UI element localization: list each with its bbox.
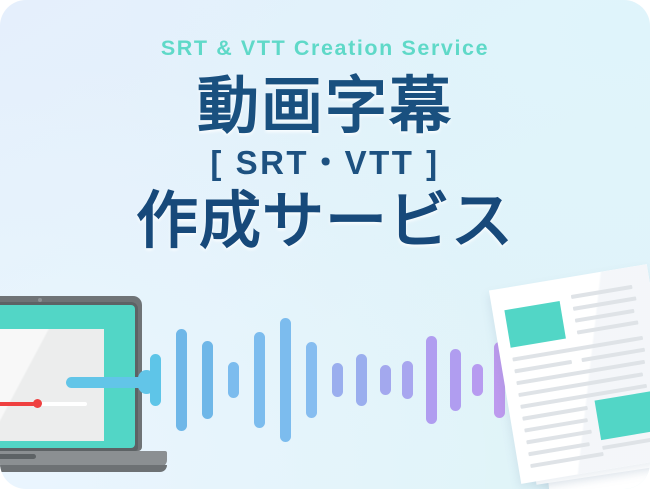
waveform-bar bbox=[402, 361, 413, 399]
progress-handle[interactable] bbox=[33, 399, 42, 408]
laptop-base-notch bbox=[0, 454, 36, 459]
page-title: 動画字幕 bbox=[0, 74, 650, 141]
laptop-base-edge bbox=[0, 465, 167, 472]
waveform-bar bbox=[280, 318, 291, 442]
banner-card: SRT & VTT Creation Service 動画字幕 [ SRT・VT… bbox=[0, 0, 650, 489]
waveform-bar bbox=[472, 364, 483, 396]
document-image-block bbox=[595, 391, 650, 440]
audio-waveform bbox=[150, 310, 510, 450]
waveform-bar bbox=[426, 336, 437, 424]
waveform-bar bbox=[380, 365, 391, 395]
document-sheet-front bbox=[489, 264, 650, 484]
waveform-bar bbox=[306, 342, 317, 418]
laptop-camera-icon bbox=[38, 298, 42, 302]
page-title-line2: 作成サービス bbox=[0, 189, 650, 256]
headline-block: SRT & VTT Creation Service 動画字幕 [ SRT・VT… bbox=[0, 0, 650, 256]
waveform-bar bbox=[450, 349, 461, 411]
progress-fill bbox=[0, 402, 37, 406]
waveform-bar bbox=[176, 329, 187, 431]
document-stack-illustration bbox=[496, 272, 650, 489]
waveform-bar bbox=[150, 354, 161, 406]
waveform-bar bbox=[332, 363, 343, 397]
page-subtitle-formats: [ SRT・VTT ] bbox=[0, 145, 650, 181]
waveform-bar bbox=[356, 354, 367, 406]
waveform-bar bbox=[254, 332, 265, 428]
waveform-bar bbox=[228, 362, 239, 398]
eyebrow-text: SRT & VTT Creation Service bbox=[0, 36, 650, 62]
waveform-bar bbox=[202, 341, 213, 419]
